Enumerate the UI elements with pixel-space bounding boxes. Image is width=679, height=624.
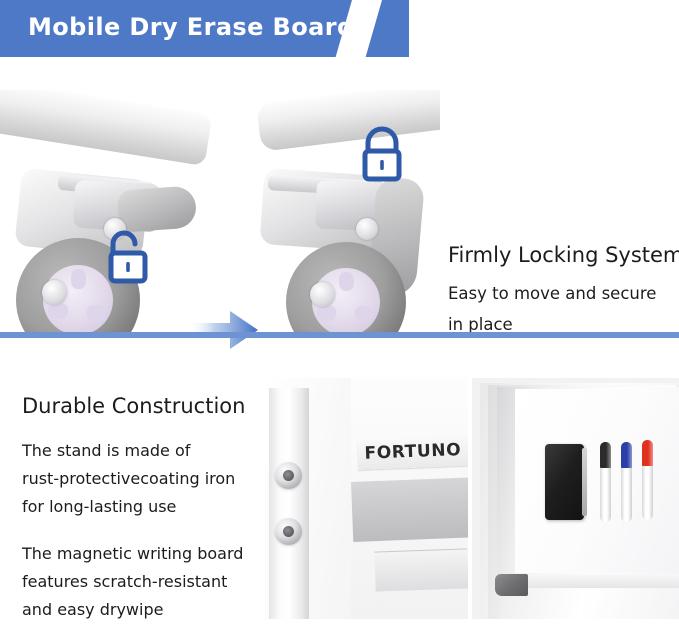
header-banner: Mobile Dry Erase Board <box>0 0 409 57</box>
durable-paragraph-1: The stand is made of rust-protectivecoat… <box>22 437 260 521</box>
durable-construction-section: Durable Construction The stand is made o… <box>0 378 679 619</box>
locking-system-body: Easy to move and secure in place <box>448 278 679 340</box>
marker-cap <box>621 442 632 468</box>
stand-gray-band <box>351 478 468 542</box>
durable-paragraph-2: The magnetic writing board features scra… <box>22 540 260 624</box>
red-marker <box>642 440 653 520</box>
marker-barrel <box>642 463 653 520</box>
magnetic-eraser <box>545 444 584 520</box>
durable-p2-line-1: The magnetic writing board <box>22 540 260 568</box>
brake-pedal-released <box>117 185 198 232</box>
brand-label: FORTUNO <box>364 440 461 464</box>
unlock-icon <box>99 230 155 293</box>
hub-spoke <box>48 303 68 319</box>
blue-marker <box>621 442 632 522</box>
page-title: Mobile Dry Erase Board <box>28 13 355 41</box>
durable-construction-heading: Durable Construction <box>22 394 260 418</box>
brake-pivot-pin <box>356 218 378 240</box>
durable-p2-line-3: and easy drywipe <box>22 596 260 624</box>
stand-knob <box>275 518 302 545</box>
hub-spoke <box>339 272 354 291</box>
whiteboard-surface <box>515 389 679 573</box>
lock-icon <box>353 126 411 191</box>
knob-center <box>283 526 294 537</box>
locking-system-section: Firmly Locking System Easy to move and s… <box>0 90 679 332</box>
wheel-axle-cap <box>310 282 335 307</box>
caster-locked-photo <box>240 90 440 332</box>
stand-rail <box>256 90 440 152</box>
eraser-edge-strip <box>582 448 587 516</box>
section-divider <box>0 332 679 338</box>
whiteboard-detail-photo <box>472 378 679 619</box>
caster-unlocked-photo <box>0 90 228 332</box>
durable-p1-line-1: The stand is made of <box>22 437 260 465</box>
hub-spoke <box>317 305 336 321</box>
banner-slash-decoration <box>336 0 382 57</box>
black-marker <box>600 442 611 522</box>
hub-spoke <box>87 305 106 321</box>
brand-plate: FORTUNO <box>357 435 468 470</box>
marker-cap <box>642 440 653 466</box>
locking-system-heading: Firmly Locking System <box>448 243 679 267</box>
wheel-axle-cap <box>42 280 67 305</box>
marker-barrel <box>600 465 611 522</box>
whiteboard-corner-bracket <box>495 574 528 596</box>
durable-construction-text: Durable Construction The stand is made o… <box>22 394 260 624</box>
knob-center <box>283 470 294 481</box>
marker-barrel <box>621 465 632 522</box>
locking-system-body-line-1: Easy to move and secure <box>448 278 679 309</box>
stand-rail <box>0 90 212 166</box>
durable-p1-line-2: rust-protectivecoating iron <box>22 465 260 493</box>
whiteboard-bottom-rail <box>515 574 679 588</box>
locking-system-text: Firmly Locking System Easy to move and s… <box>448 243 679 340</box>
stand-knob <box>275 462 302 489</box>
stand-post <box>269 388 309 619</box>
durable-p1-line-3: for long-lasting use <box>22 493 260 521</box>
marker-tray <box>374 548 468 591</box>
durable-p2-line-2: features scratch-resistant <box>22 568 260 596</box>
stand-detail-photo: FORTUNO <box>265 378 468 619</box>
hub-spoke <box>355 306 373 322</box>
marker-cap <box>600 442 611 468</box>
hub-spoke <box>71 269 86 289</box>
